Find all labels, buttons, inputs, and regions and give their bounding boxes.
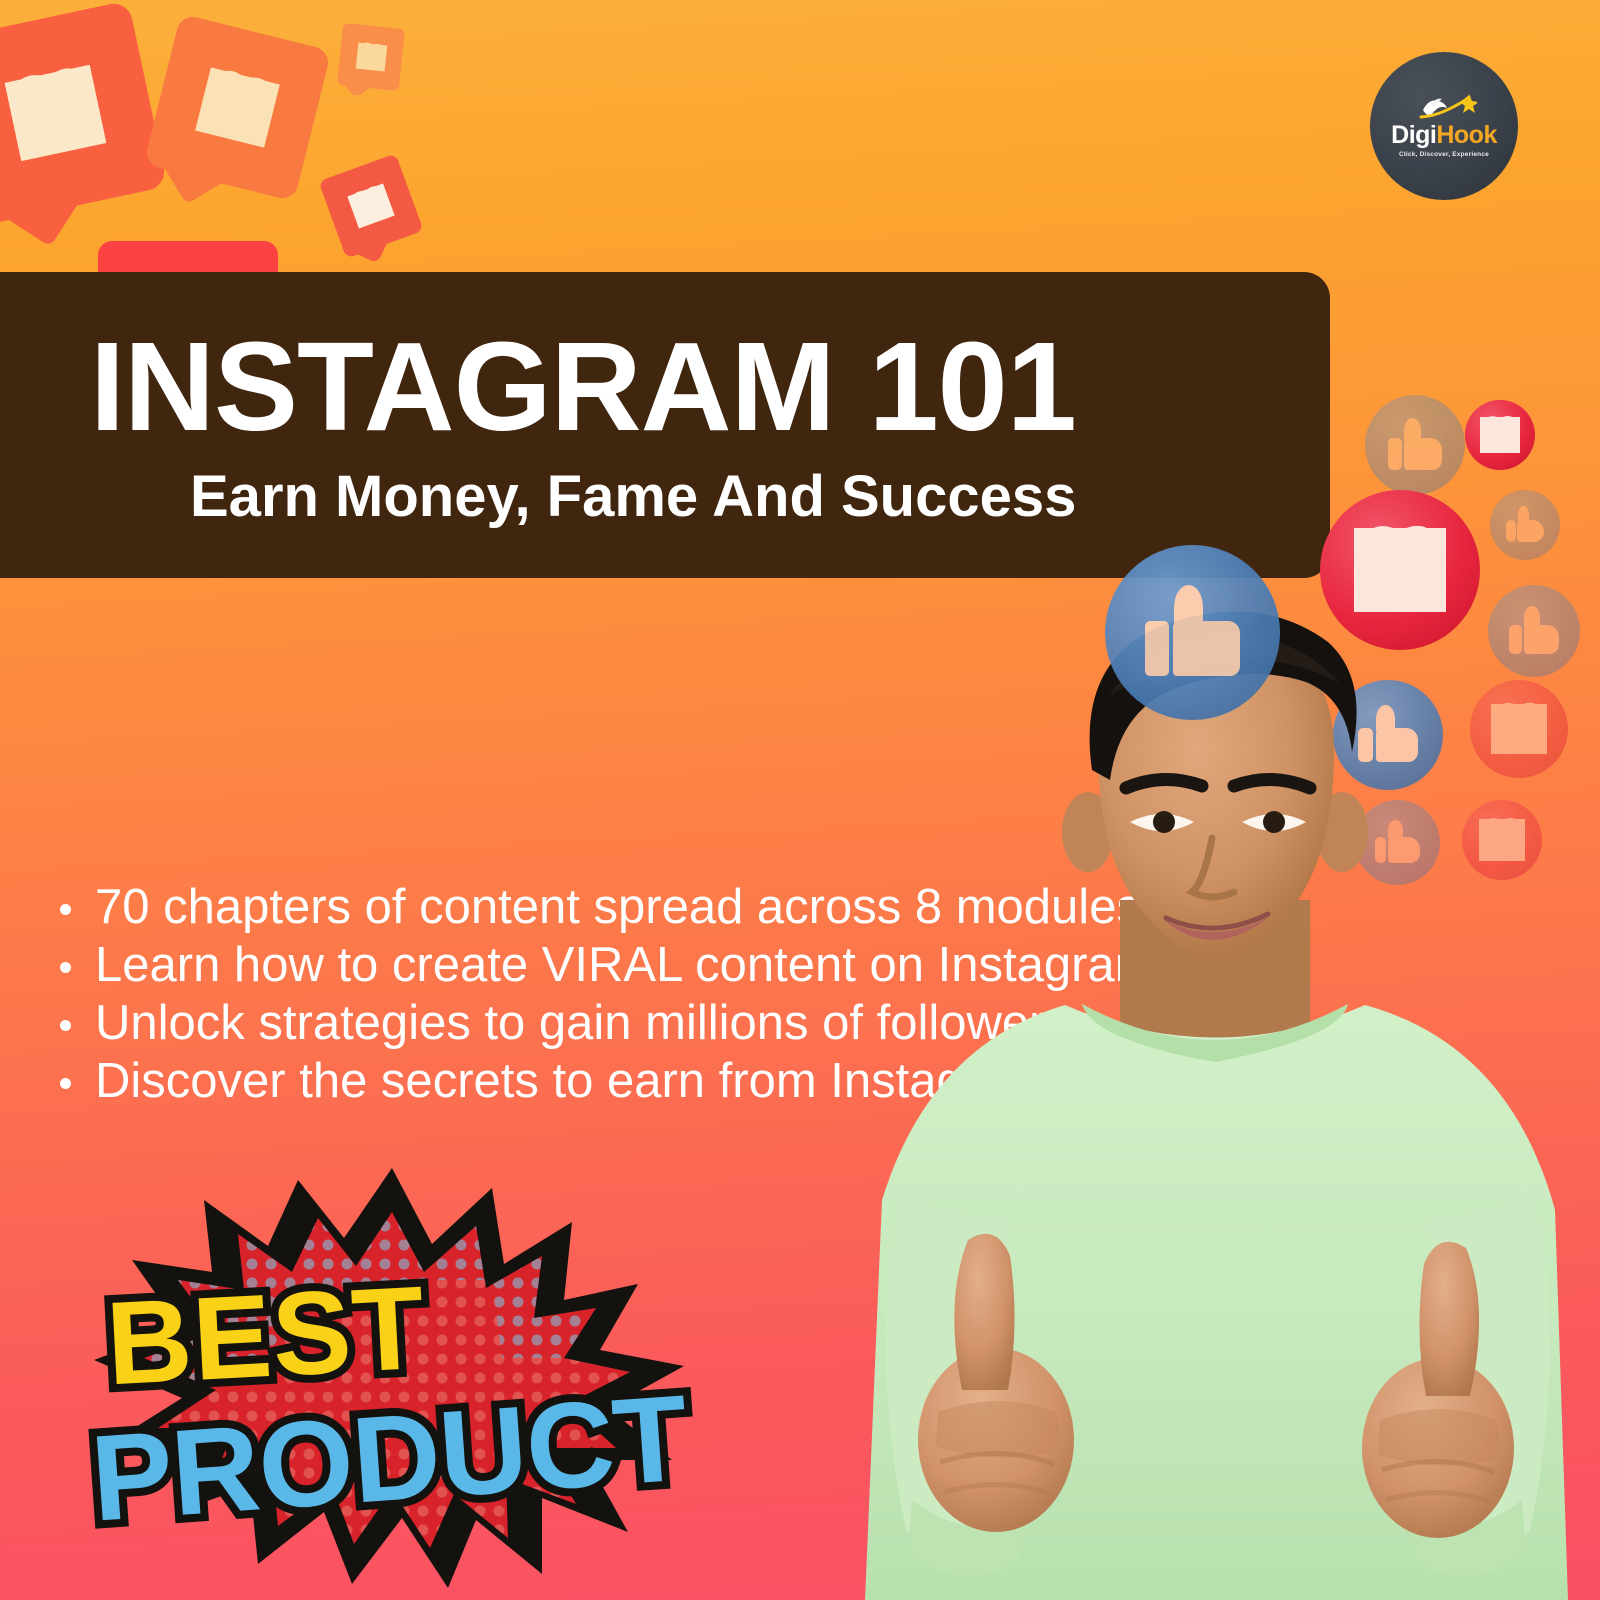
like-card-center [144, 14, 332, 202]
bubble-tail [355, 231, 388, 264]
best-product-badge: BEST PRODUCT [72, 1160, 712, 1590]
thumb-part-pad [1145, 621, 1169, 676]
reaction-thumb-main [1105, 545, 1280, 720]
like-card-small-right [318, 153, 423, 258]
heart-icon [4, 65, 106, 161]
reaction-heart-small-1 [1465, 400, 1535, 470]
bubble-tail [344, 72, 370, 98]
like-card-small-top [337, 23, 405, 91]
logo-tagline: Click, Discover, Experience [1399, 151, 1489, 158]
heart-icon [347, 184, 394, 229]
person-photo [820, 600, 1600, 1600]
thumb-part-up [1518, 506, 1530, 524]
thumbs-up-icon [1144, 584, 1242, 682]
thumbs-up-icon [1387, 417, 1443, 473]
thumbs-up-icon [1505, 505, 1544, 544]
thumb-part-pad [1388, 438, 1401, 469]
reaction-thumb-faded-2 [1490, 490, 1560, 560]
heart-icon [1480, 417, 1521, 453]
page-title: INSTAGRAM 101 [90, 324, 1330, 450]
title-banner: INSTAGRAM 101 Earn Money, Fame And Succe… [0, 272, 1330, 578]
logo-wordmark: DigiHook [1391, 123, 1497, 148]
page-subtitle: Earn Money, Fame And Success [90, 468, 1330, 526]
bubble-tail [3, 168, 82, 247]
badge-line1: BEST [103, 1262, 428, 1410]
heart-icon [1354, 528, 1447, 611]
promotional-poster: INSTAGRAM 101 Earn Money, Fame And Succe… [0, 0, 1600, 1600]
logo-name-part1: Digi [1391, 121, 1436, 149]
thumb-part-up [1404, 418, 1421, 444]
like-card-large-left [0, 0, 168, 225]
thumb-part-pad [1506, 520, 1515, 542]
heart-icon [195, 67, 280, 147]
reaction-thumb-faded-1 [1365, 395, 1465, 495]
logo-name-part2: Hook [1436, 121, 1497, 149]
dove-shooting-star-icon [1411, 94, 1477, 122]
bubble-tail [162, 140, 226, 204]
brand-logo-badge[interactable]: DigiHook Click, Discover, Experience [1370, 52, 1518, 200]
reaction-heart-large [1320, 490, 1480, 650]
thumb-part-up [1174, 585, 1203, 630]
heart-icon [355, 43, 387, 72]
